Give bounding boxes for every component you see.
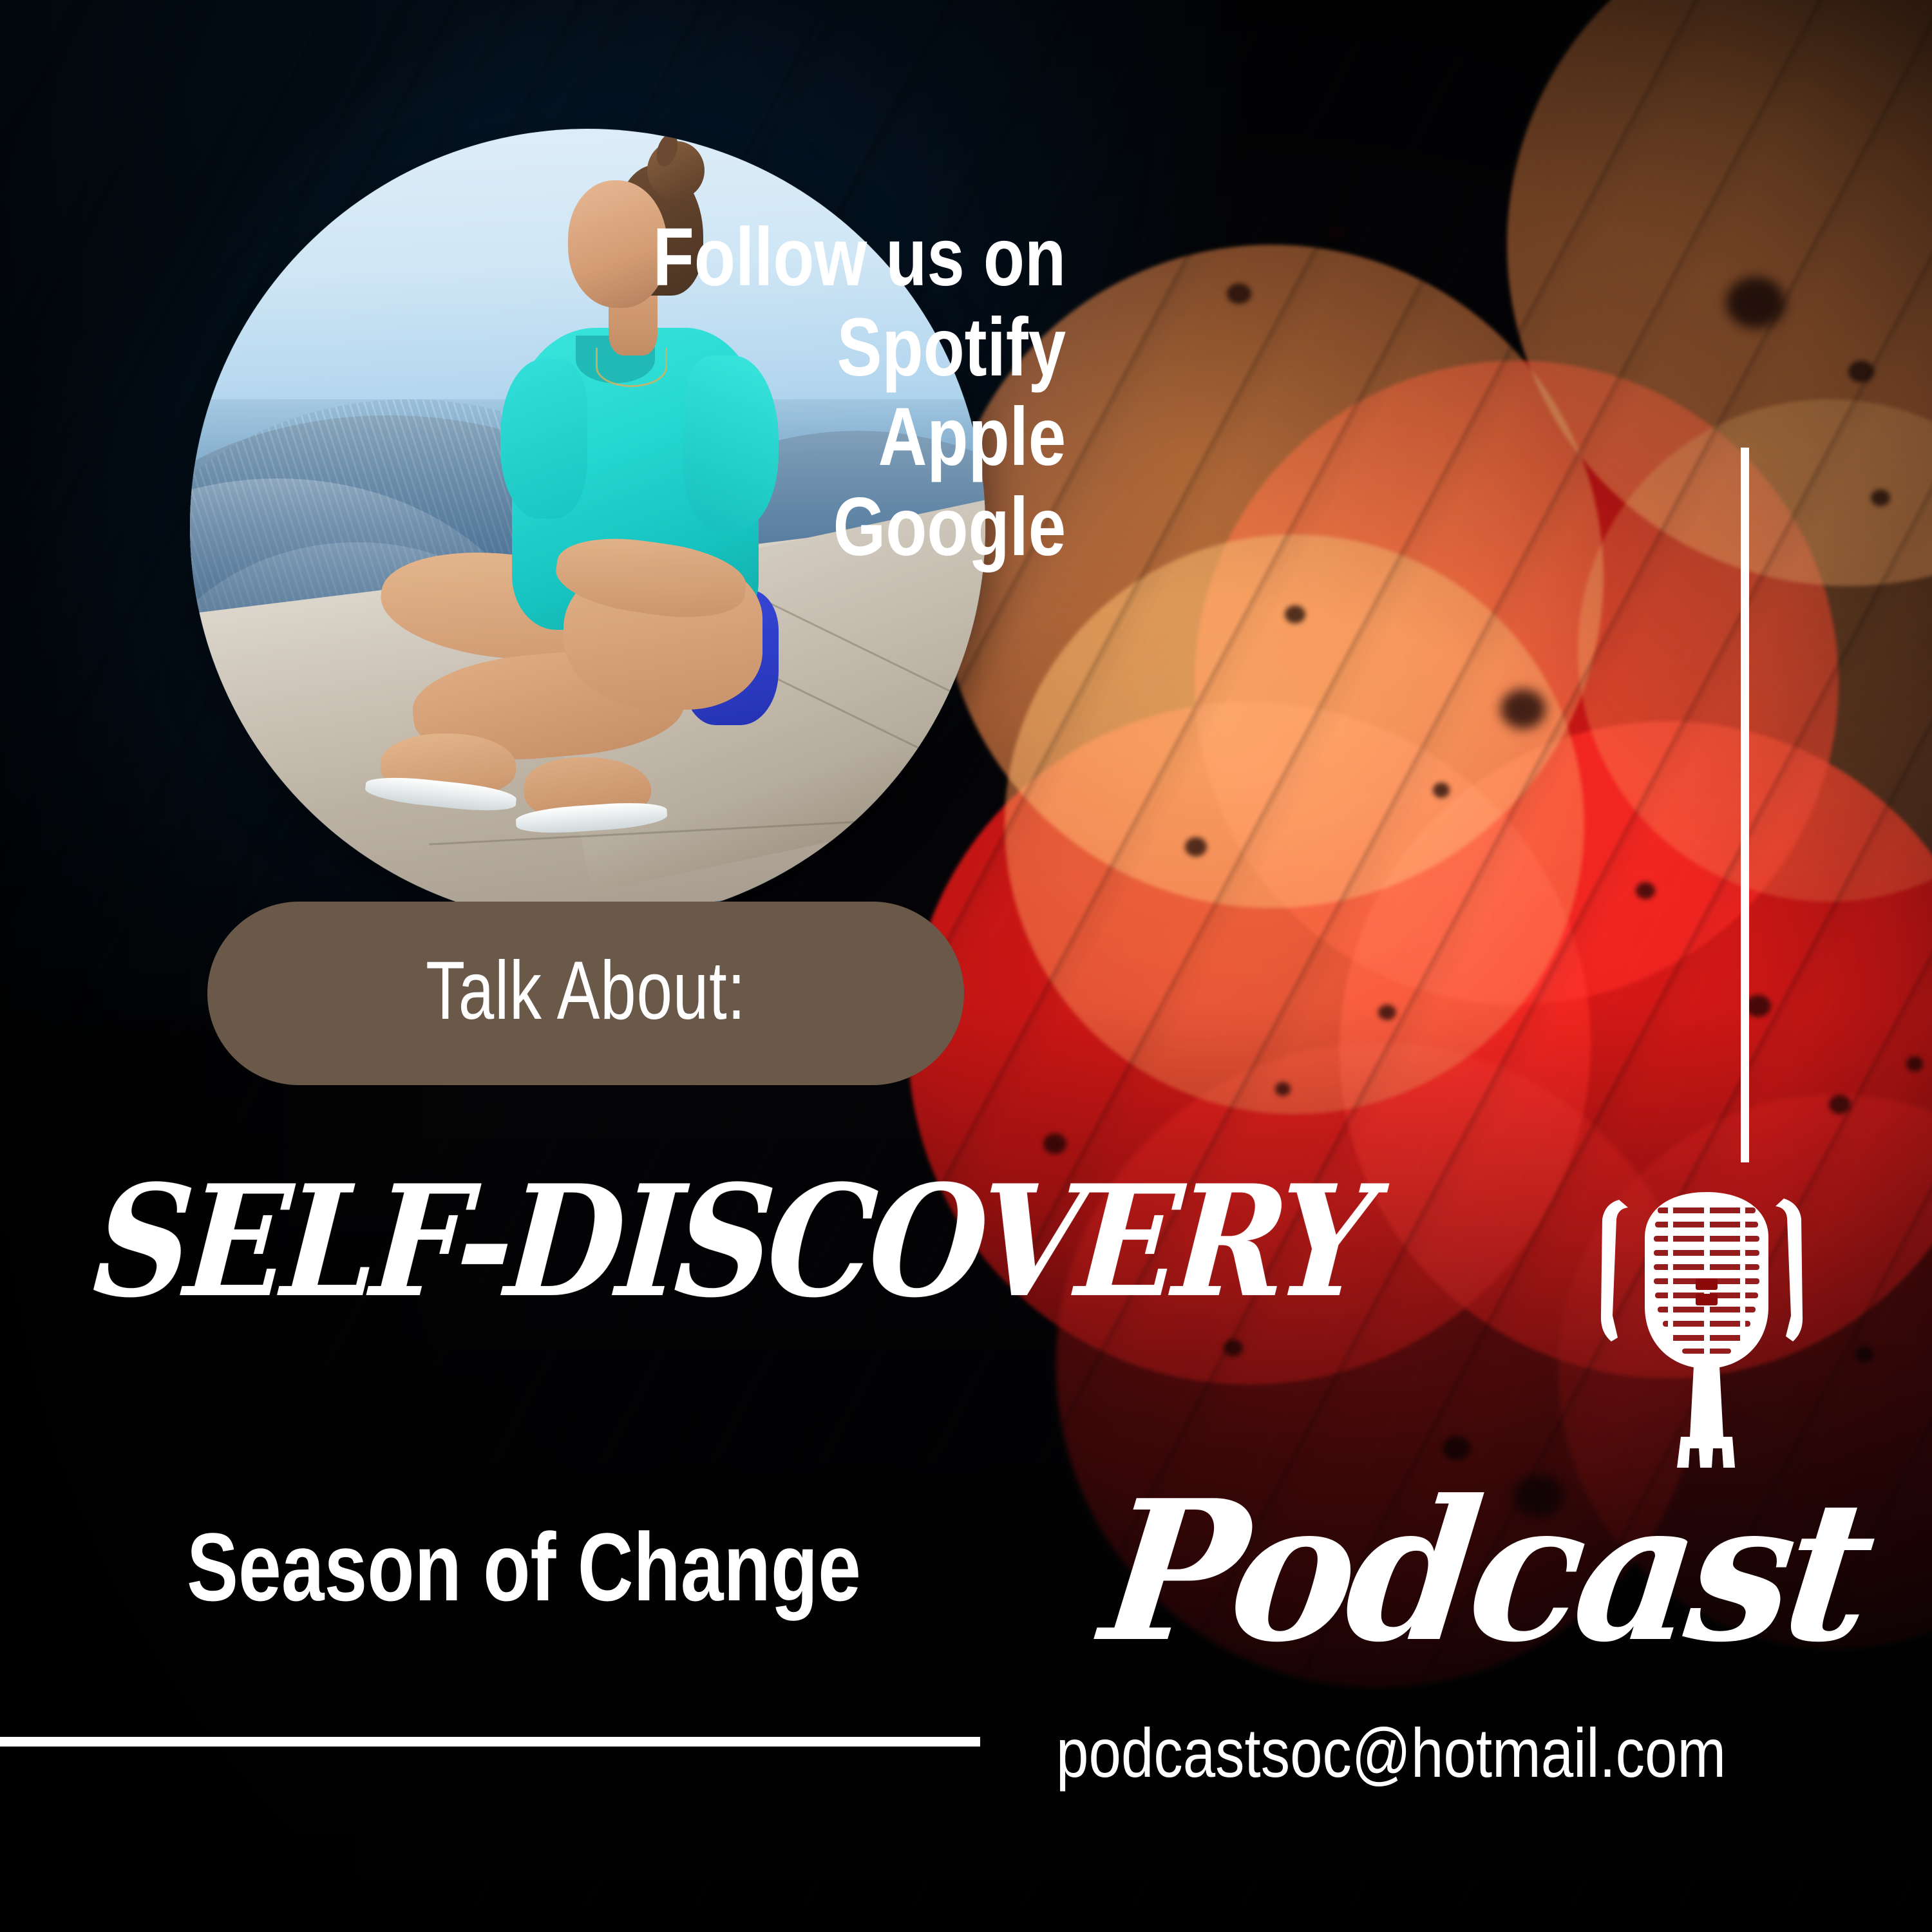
microphone-icon [1591, 1188, 1823, 1491]
season-subtitle: Season of Change [187, 1519, 861, 1615]
follow-line-apple[interactable]: Apple [653, 392, 1066, 482]
talk-about-label: Talk About: [426, 950, 746, 1037]
vertical-rule-divider [1741, 448, 1749, 1162]
podcast-cover: Follow us on Spotify Apple Google Talk A… [0, 0, 1932, 1932]
follow-line-spotify[interactable]: Spotify [653, 303, 1066, 393]
contact-email[interactable]: podcastsoc@hotmail.com [1056, 1718, 1726, 1788]
episode-title: SELF-DISCOVERY [90, 1166, 1374, 1319]
follow-us-block: Follow us on Spotify Apple Google [653, 213, 1066, 572]
talk-about-pill: Talk About: [207, 902, 964, 1085]
follow-line-google[interactable]: Google [653, 482, 1066, 573]
horizontal-rule-divider [0, 1737, 980, 1747]
podcast-wordmark: Podcast [1095, 1475, 1877, 1668]
follow-line-1: Follow us on [653, 213, 1066, 303]
